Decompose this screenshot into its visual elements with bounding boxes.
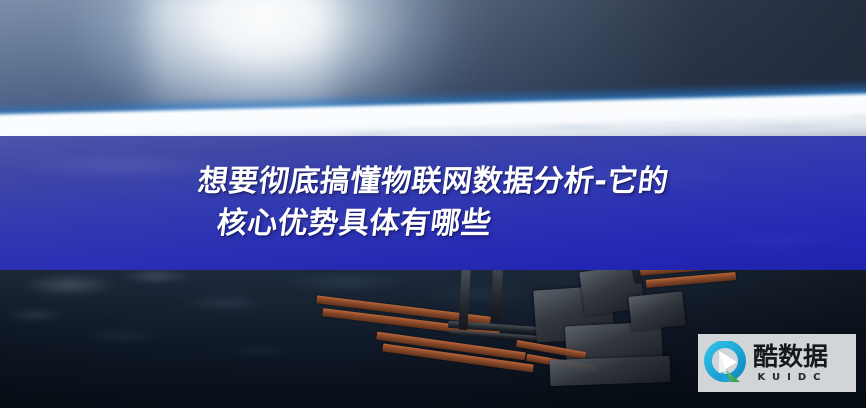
- logo-text-block: 酷数据 KUIDC: [753, 344, 828, 383]
- solar-panel: [646, 272, 736, 288]
- title-line-1: 想要彻底搞懂物联网数据分析-它的: [195, 162, 670, 202]
- station-keel: [550, 356, 671, 386]
- play-circle-icon: [704, 341, 748, 385]
- station-module: [628, 291, 685, 330]
- brand-logo-watermark[interactable]: 酷数据 KUIDC: [698, 334, 856, 392]
- brand-name-cn: 酷数据: [753, 344, 828, 369]
- brand-name-en: KUIDC: [753, 373, 828, 383]
- article-hero-banner: 想要彻底搞懂物联网数据分析-它的 核心优势具体有哪些: [0, 0, 866, 408]
- banner-title: 想要彻底搞懂物联网数据分析-它的 核心优势具体有哪些: [0, 136, 866, 270]
- title-line-2: 核心优势具体有哪些: [214, 204, 493, 244]
